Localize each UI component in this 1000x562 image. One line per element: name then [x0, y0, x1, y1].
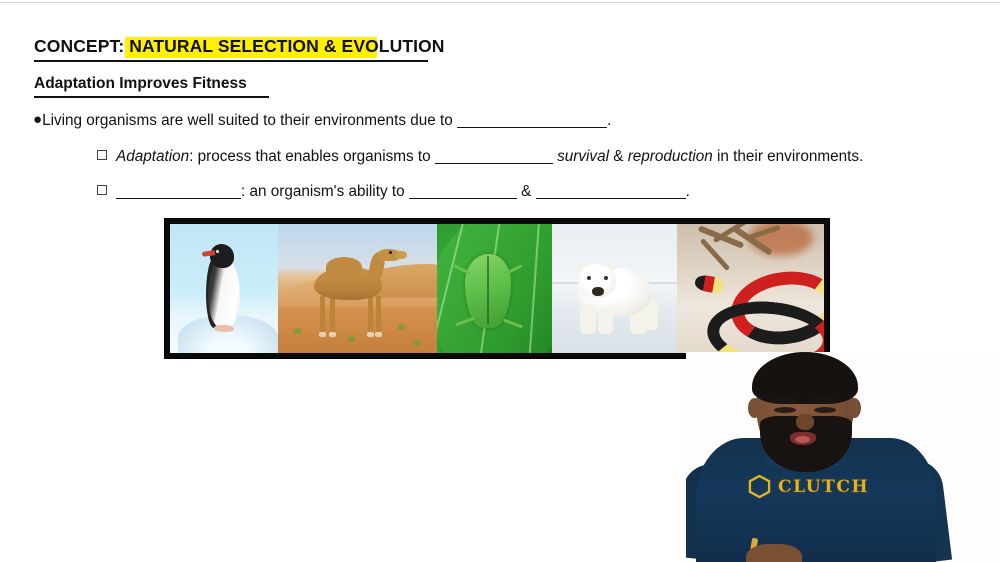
line2-italic-survival: survival: [557, 148, 609, 165]
instructor-webcam[interactable]: CLUTCH: [686, 352, 1000, 562]
image-penguin: [170, 224, 278, 353]
line1-text: Living organisms are well suited to thei…: [42, 112, 453, 129]
camel-leg: [330, 296, 335, 334]
top-divider: [0, 2, 1000, 3]
antler-branch: [700, 238, 730, 271]
line2-ampersand: &: [613, 148, 623, 165]
bullet-line-1: ●Living organisms are well suited to the…: [33, 112, 611, 128]
line3-text: : an organism's ability to: [241, 183, 405, 200]
desert-scrub: [348, 336, 355, 342]
bear-eye: [604, 276, 608, 280]
background-rock: [749, 224, 813, 256]
page-title: CONCEPT: NATURAL SELECTION & EVOLUTION: [34, 36, 445, 57]
camel-eye: [389, 251, 392, 254]
clutch-logo-text: CLUTCH: [778, 477, 869, 497]
concept-label: CONCEPT:: [34, 36, 124, 56]
leaf-insect-midrib: [487, 256, 489, 324]
instructor-eye: [814, 407, 836, 413]
clutch-logo: CLUTCH: [748, 474, 869, 499]
line3-blank-3[interactable]: [536, 185, 686, 199]
adaptation-image-strip: [165, 219, 829, 358]
concept-title: NATURAL SELECTION & EVOLUTION: [129, 36, 444, 56]
camel-hoof: [329, 332, 336, 337]
bear-leg: [580, 304, 596, 334]
bullet-dot-icon: ●: [33, 111, 42, 128]
camel-snout: [396, 251, 407, 259]
bear-leg: [598, 308, 613, 334]
camel-leg: [368, 296, 373, 334]
line3-blank-1[interactable]: [116, 185, 241, 199]
line3-blank-2[interactable]: [409, 185, 517, 199]
line1-period: .: [607, 112, 611, 129]
line2-italic-reproduction: reproduction: [628, 148, 713, 165]
desert-scrub: [414, 340, 421, 346]
camel-hoof: [375, 332, 382, 337]
instructor-hand: [746, 544, 802, 562]
slide-canvas: CONCEPT: NATURAL SELECTION & EVOLUTION A…: [0, 0, 1000, 562]
instructor-eye: [774, 407, 796, 413]
section-subtitle: Adaptation Improves Fitness: [34, 75, 247, 93]
image-coral-snake: [677, 224, 824, 353]
square-bullet-icon: [97, 185, 107, 195]
instructor-tongue: [795, 436, 810, 443]
desert-scrub: [398, 324, 405, 330]
bullet-line-2: Adaptation: process that enables organis…: [97, 149, 863, 164]
title-underline: [34, 60, 428, 62]
hexagon-icon: [748, 474, 771, 499]
line3-period: .: [686, 183, 690, 200]
subtitle-underline: [34, 96, 269, 98]
line2-text: : process that enables organisms to: [189, 148, 430, 165]
penguin-head: [210, 244, 234, 268]
desert-scrub: [294, 328, 301, 334]
line3-ampersand: &: [521, 183, 531, 200]
line2-blank-1[interactable]: [435, 150, 553, 164]
camel-leg: [376, 296, 381, 334]
line1-blank-1[interactable]: [457, 114, 607, 128]
camel-hoof: [367, 332, 374, 337]
camel-sand: [278, 307, 437, 353]
camel-leg: [320, 296, 325, 334]
bear-eye: [587, 276, 591, 280]
camel-hoof: [319, 332, 326, 337]
image-camel: [278, 224, 437, 353]
camel-hump: [326, 257, 362, 277]
square-bullet-icon: [97, 150, 107, 160]
image-polar-bear: [552, 224, 677, 353]
bear-nose: [592, 287, 604, 296]
instructor-ear: [748, 398, 761, 418]
instructor-nose: [796, 414, 814, 430]
image-leaf-insect: [437, 224, 552, 353]
instructor-ear: [848, 398, 861, 418]
line2-tail: in their environments.: [717, 148, 863, 165]
penguin-foot: [214, 325, 234, 332]
line2-term: Adaptation: [116, 148, 189, 165]
penguin-eye: [216, 250, 219, 253]
bullet-line-3: : an organism's ability to & .: [97, 184, 690, 199]
snake-head: [694, 274, 724, 295]
